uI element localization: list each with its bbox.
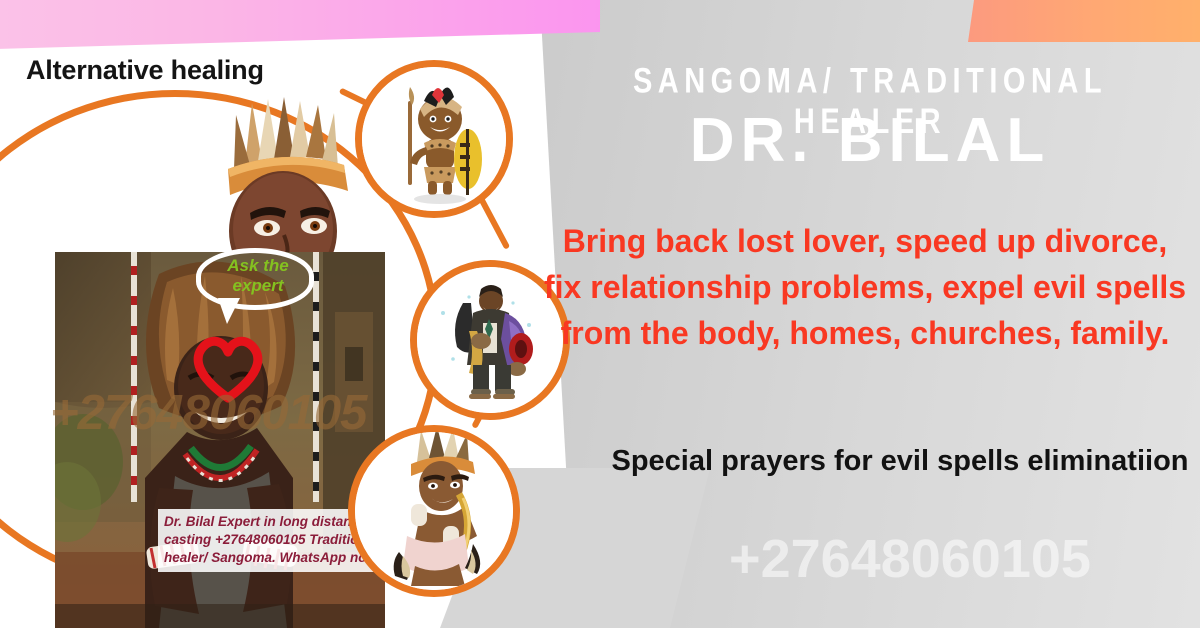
special-prayers-text: Special prayers for evil spells eliminat… — [600, 440, 1200, 482]
services-text: Bring back lost lover, speed up divorce,… — [540, 218, 1190, 356]
speech-bubble-text: Ask the expert — [210, 256, 306, 296]
zulu-warrior-illustration — [355, 60, 513, 218]
photo-phone-watermark: +27648060105 — [50, 385, 430, 441]
healer-name-title: DR. BILAL — [560, 108, 1180, 174]
orange-top-banner — [968, 0, 1200, 42]
page-title: Alternative healing — [26, 55, 264, 86]
ask-the-expert-bubble: Ask the expert — [196, 248, 314, 310]
speech-bubble-tail — [218, 298, 240, 324]
phone-watermark: +27648060105 — [620, 528, 1200, 590]
traditional-dancer-illustration — [348, 425, 520, 597]
poster-canvas: Alternative healing — [0, 0, 1200, 628]
pink-top-banner — [0, 0, 600, 62]
